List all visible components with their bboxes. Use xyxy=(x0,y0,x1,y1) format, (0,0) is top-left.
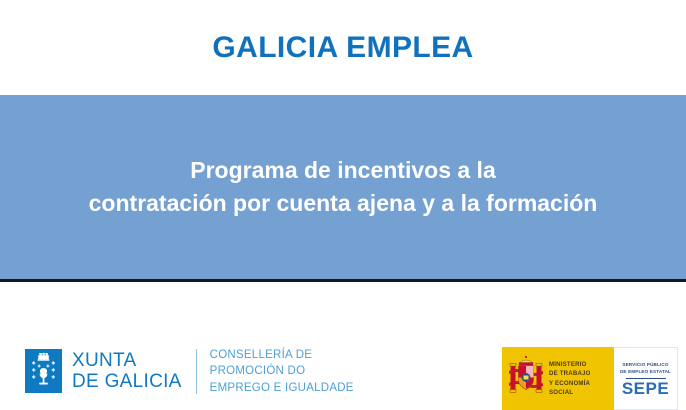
title-zone: GALICIA EMPLEA xyxy=(0,0,686,95)
logo-divider xyxy=(196,349,197,394)
page-title: GALICIA EMPLEA xyxy=(212,33,473,63)
sepe-subtitle: SERVICIO PÚBLICO DE EMPLEO ESTATAL xyxy=(620,362,671,375)
xunta-coat-of-arms-icon xyxy=(25,349,62,393)
spain-coat-of-arms-icon xyxy=(508,354,544,403)
sepe-logo: SERVICIO PÚBLICO DE EMPLEO ESTATAL SEPE xyxy=(614,347,678,410)
ministerio-label: MINISTERIO DE TRABAJO Y ECONOMÍA SOCIAL xyxy=(549,360,614,397)
government-logo-block: MINISTERIO DE TRABAJO Y ECONOMÍA SOCIAL … xyxy=(502,347,678,410)
xunta-de-galicia-logo: XUNTA DE GALICIA CONSELLERÍA DE PROMOCIÓ… xyxy=(25,347,354,396)
program-banner: Programa de incentivos a la contratación… xyxy=(0,95,686,282)
logo-strip: XUNTA DE GALICIA CONSELLERÍA DE PROMOCIÓ… xyxy=(0,285,686,410)
sepe-acronym: SEPE xyxy=(622,380,669,397)
xunta-wordmark: XUNTA DE GALICIA xyxy=(72,350,182,393)
ministerio-logo: MINISTERIO DE TRABAJO Y ECONOMÍA SOCIAL xyxy=(502,347,614,410)
program-banner-text: Programa de incentivos a la contratación… xyxy=(77,154,610,219)
conselleria-label: CONSELLERÍA DE PROMOCIÓN DO EMPREGO E IG… xyxy=(210,347,354,396)
